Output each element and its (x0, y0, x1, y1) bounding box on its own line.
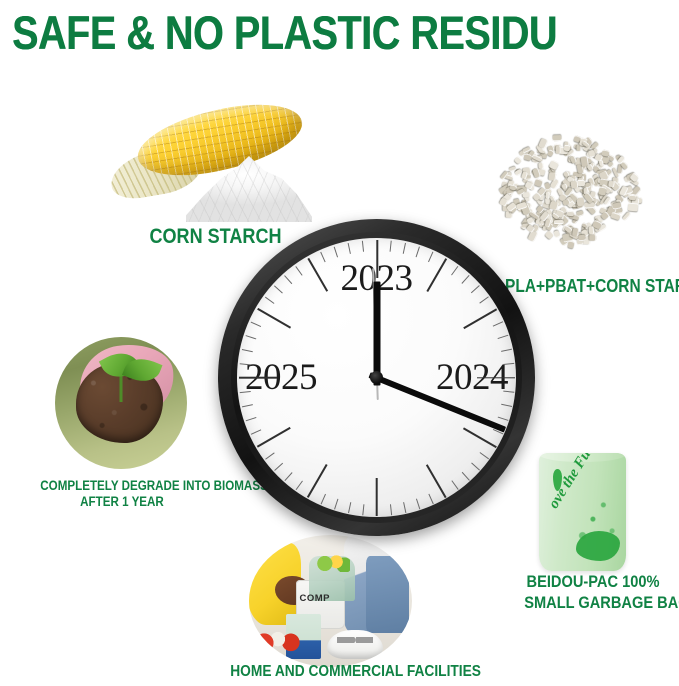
composter-appliance-shape (327, 630, 382, 659)
clock-face: 2023 2024 2025 (237, 238, 516, 517)
clock-tick-minor (295, 266, 302, 276)
resin-pellet (622, 212, 631, 222)
clock-tick-minor (501, 403, 512, 406)
resin-pellet (570, 181, 578, 189)
clock-tick-minor (347, 502, 350, 513)
clock-tick-major (376, 240, 378, 278)
clock-tick-minor (333, 498, 337, 509)
garbage-bag-roll-image: ove the Future (539, 453, 626, 571)
clock-tick-major (257, 427, 291, 447)
caption-beidou-pac-line2: SMALL GARBAGE BAGS (524, 593, 662, 614)
resin-pellet (627, 202, 637, 211)
clock-tick-minor (389, 240, 391, 251)
resin-pellet (628, 194, 636, 200)
resin-pellet (523, 153, 531, 161)
clock-tick-major (463, 308, 497, 328)
clock-tick-minor (284, 472, 292, 481)
resin-pellet (567, 240, 574, 248)
clock-tick-major (463, 427, 497, 447)
person-jeans-shape (366, 556, 408, 633)
clock-tick-minor (250, 429, 260, 434)
corn-starch-image (108, 104, 323, 224)
clock-tick-minor (241, 348, 252, 351)
resin-pellet (589, 235, 596, 241)
tomatoes-shape (254, 629, 300, 653)
resin-pellet (577, 234, 585, 241)
clock-tick-minor (428, 251, 433, 261)
clock-hour-hand (373, 282, 380, 386)
clock-tick-minor (264, 296, 274, 303)
clock-tick-minor (361, 240, 363, 251)
clock-tick-minor (428, 493, 433, 503)
caption-home-commercial-facilities: HOME AND COMMERCIAL FACILITIES (230, 662, 430, 682)
clock-tick-major (376, 478, 378, 516)
clock-tick-minor (492, 321, 502, 326)
caption-degrade-biomass-line1: COMPLETELY DEGRADE INTO BIOMASS (40, 478, 203, 494)
resin-pellet (514, 156, 523, 165)
clock-tick-minor (461, 274, 469, 283)
clock-tick-minor (501, 348, 512, 351)
clock-tick-minor (273, 285, 282, 293)
clock-tick-minor (415, 498, 419, 509)
vegetable-scraps-shape (314, 555, 350, 572)
caption-degrade-biomass: COMPLETELY DEGRADE INTO BIOMASS AFTER 1 … (40, 478, 203, 511)
clock-tick-minor (497, 416, 508, 420)
roll-print-graphic (576, 531, 620, 561)
clock-tick-minor (479, 452, 489, 459)
clock-tick-minor (451, 265, 458, 275)
clock-tick-minor (497, 334, 508, 338)
clock-tick-minor (241, 404, 252, 407)
clock-tick-minor (265, 452, 275, 459)
resin-pellet (555, 146, 560, 154)
clock-tick-minor (295, 480, 302, 490)
clock-center-pivot (370, 371, 383, 384)
resin-pellet (575, 210, 584, 217)
resin-pellet (576, 145, 581, 151)
clock-tick-minor (274, 462, 283, 470)
clock-tick-major (239, 377, 277, 379)
clock-tick-minor (347, 242, 350, 253)
resin-pellet (534, 178, 542, 186)
caption-beidou-pac: BEIDOU-PAC 100% SMALL GARBAGE BAGS (524, 572, 662, 613)
clock-tick-major (307, 464, 327, 498)
clock-tick-minor (471, 462, 480, 470)
compost-bin-label: COMP (300, 593, 344, 604)
clock-tick-minor (461, 471, 469, 480)
biomass-image (55, 337, 187, 469)
clock-tick-minor (403, 502, 406, 513)
resin-pellet (588, 226, 594, 235)
clock-tick-minor (389, 504, 391, 515)
clock-tick-minor (362, 504, 364, 515)
clock-tick-major (426, 258, 446, 292)
resin-pellet (538, 162, 544, 168)
resin-pellet (608, 181, 615, 188)
clock-tick-minor (470, 285, 479, 293)
resin-pellet (554, 220, 564, 224)
clock-tick-major (307, 258, 327, 292)
caption-beidou-pac-line1: BEIDOU-PAC 100% (524, 572, 662, 593)
clock-tick-major (426, 464, 446, 498)
resin-pellet (547, 149, 554, 157)
clock-tick-minor (284, 275, 292, 284)
clock-tick-minor (402, 242, 405, 253)
clock-tick-minor (245, 416, 256, 420)
seedling-stem (120, 373, 123, 402)
facilities-image: COMP (249, 535, 412, 667)
wall-clock: 2023 2024 2025 (218, 219, 535, 536)
clock-tick-minor (451, 480, 458, 490)
clock-tick-minor (415, 246, 419, 257)
clock-tick-major (257, 308, 291, 328)
clock-tick-minor (479, 296, 489, 303)
caption-degrade-biomass-line2: AFTER 1 YEAR (40, 494, 203, 510)
clock-tick-minor (320, 493, 325, 503)
page-title: SAFE & NO PLASTIC RESIDU (12, 8, 566, 58)
resin-pellet (548, 172, 556, 181)
clock-tick-minor (333, 246, 337, 257)
resin-pellet (553, 135, 562, 141)
clock-tick-minor (250, 321, 260, 326)
clock-tick-major (477, 377, 515, 379)
clock-tick-minor (320, 251, 325, 261)
clock-tick-minor (245, 334, 256, 338)
